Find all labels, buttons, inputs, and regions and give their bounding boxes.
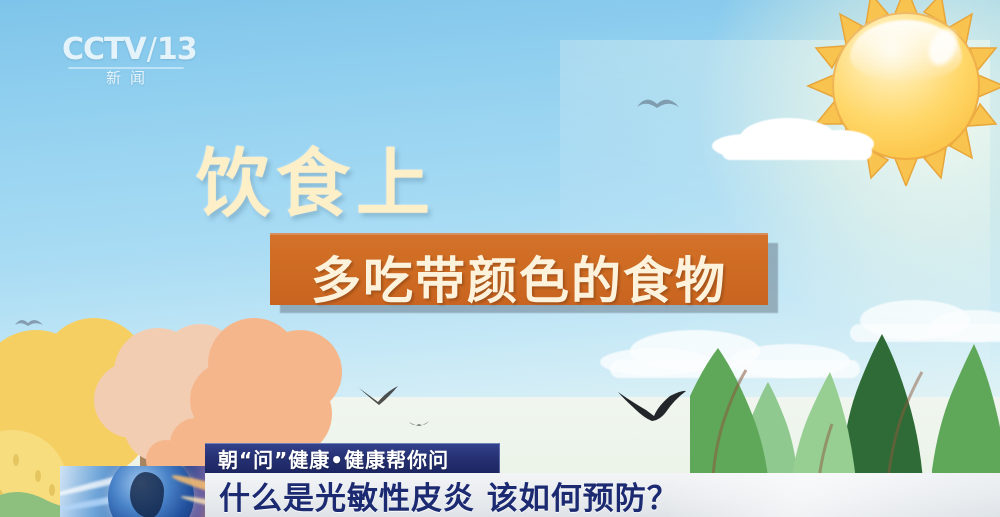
- headline-sheen: [670, 473, 1000, 517]
- headline-bar: 什么是光敏性皮炎 该如何预防？: [205, 473, 1000, 517]
- logo-underline: [68, 67, 184, 69]
- headline-text: 什么是光敏性皮炎 该如何预防？: [219, 473, 679, 517]
- logo-wordmark: CCTV/13: [62, 33, 190, 67]
- channel-logo: CCTV/13 新闻: [62, 33, 190, 97]
- bird-silhouette-large: [616, 390, 688, 424]
- logo-channel-number: 13: [157, 32, 197, 67]
- program-title-text: 朝“问”健康•健康帮你问: [218, 444, 449, 473]
- logo-cctv-text: CCTV: [62, 32, 146, 67]
- bird-silhouette-small-left: [14, 314, 44, 330]
- broadcast-screenshot: CCTV/13 新闻 饮食上 多吃带颜色的食物 朝“问”健康•健康帮你问 什么是…: [0, 0, 1000, 517]
- program-title-bar: 朝“问”健康•健康帮你问: [205, 443, 500, 473]
- bird-silhouette-sky: [636, 92, 680, 114]
- overlay-banner: 多吃带颜色的食物: [270, 233, 768, 305]
- bird-silhouette-tiny: [408, 418, 430, 428]
- bird-silhouette-left-mid: [358, 382, 400, 406]
- globe-sphere: [108, 466, 194, 517]
- logo-subtitle: 新闻: [62, 68, 190, 88]
- logo-slash: /: [146, 32, 157, 67]
- overlay-banner-text: 多吃带颜色的食物: [270, 241, 768, 313]
- overlay-kicker-text: 饮食上: [196, 124, 436, 231]
